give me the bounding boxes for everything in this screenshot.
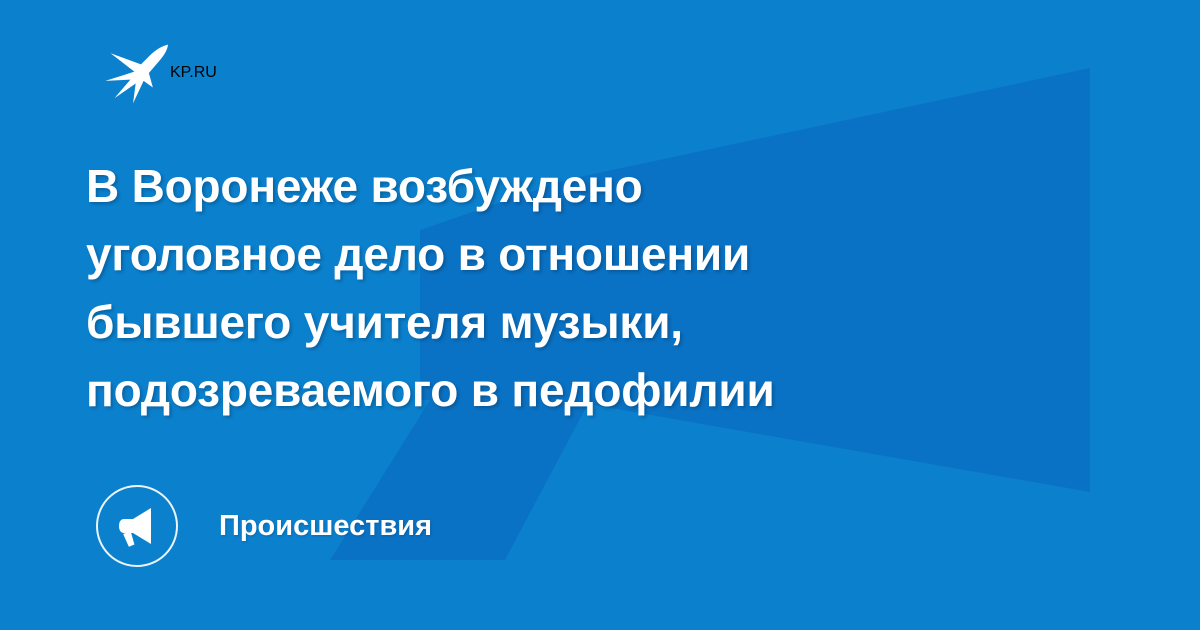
category-icon-badge <box>96 485 178 567</box>
brand-logo[interactable]: KP.RU <box>104 38 217 108</box>
headline-line: В Воронеже возбуждено <box>86 152 986 220</box>
headline-line: бывшего учителя музыки, <box>86 288 986 356</box>
swallow-bird-logo-icon <box>104 40 170 106</box>
headline-line: уголовное дело в отношении <box>86 220 986 288</box>
headline-line: подозреваемого в педофилии <box>86 356 986 424</box>
page-title: В Воронеже возбуждено уголовное дело в о… <box>86 152 986 424</box>
brand-name: KP.RU <box>170 64 217 82</box>
category-tag[interactable]: Происшествия <box>96 484 432 568</box>
category-label: Происшествия <box>219 512 432 541</box>
share-card: KP.RU В Воронеже возбуждено уголовное де… <box>0 0 1200 630</box>
megaphone-icon <box>113 502 161 550</box>
